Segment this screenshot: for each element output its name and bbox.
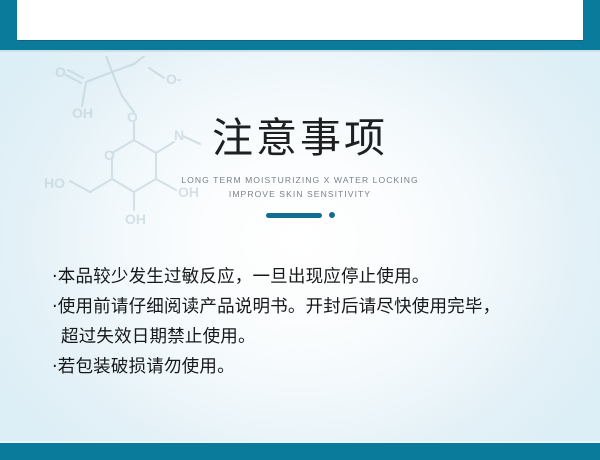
top-banner (0, 0, 600, 50)
bottom-bar (0, 443, 600, 460)
notice-text: 若包装破损请勿使用。 (58, 357, 235, 377)
notice-text: 超过失效日期禁止使用。 (61, 327, 256, 347)
poster-canvas: O OH O- O O N HO OH OH 注意事项 LONG TERM MO… (0, 0, 600, 460)
notice-item: ·使用前请仔细阅读产品说明书。开封后请尽快使用完毕， (52, 292, 562, 322)
subtitle-line-1: LONG TERM MOISTURIZING X WATER LOCKING (150, 173, 450, 187)
notice-text: 本品较少发生过敏反应，一旦出现应停止使用。 (58, 267, 430, 287)
page-title: 注意事项 (150, 112, 450, 164)
content-background (0, 52, 600, 443)
top-banner-inner-panel (17, 0, 583, 40)
divider-dot-icon (329, 212, 335, 218)
notice-item: ·若包装破损请勿使用。 (52, 352, 562, 382)
subtitle-line-2: IMPROVE SKIN SENSITIVITY (150, 187, 450, 201)
notice-item: ·本品较少发生过敏反应，一旦出现应停止使用。 (52, 262, 562, 292)
notice-text: 使用前请仔细阅读产品说明书。开封后请尽快使用完毕， (58, 297, 501, 317)
header-block: 注意事项 LONG TERM MOISTURIZING X WATER LOCK… (150, 112, 450, 218)
notice-item-continuation: 超过失效日期禁止使用。 (52, 322, 562, 352)
divider-bar-icon (266, 213, 322, 218)
notice-list: ·本品较少发生过敏反应，一旦出现应停止使用。 ·使用前请仔细阅读产品说明书。开封… (52, 262, 562, 382)
divider (150, 212, 450, 218)
